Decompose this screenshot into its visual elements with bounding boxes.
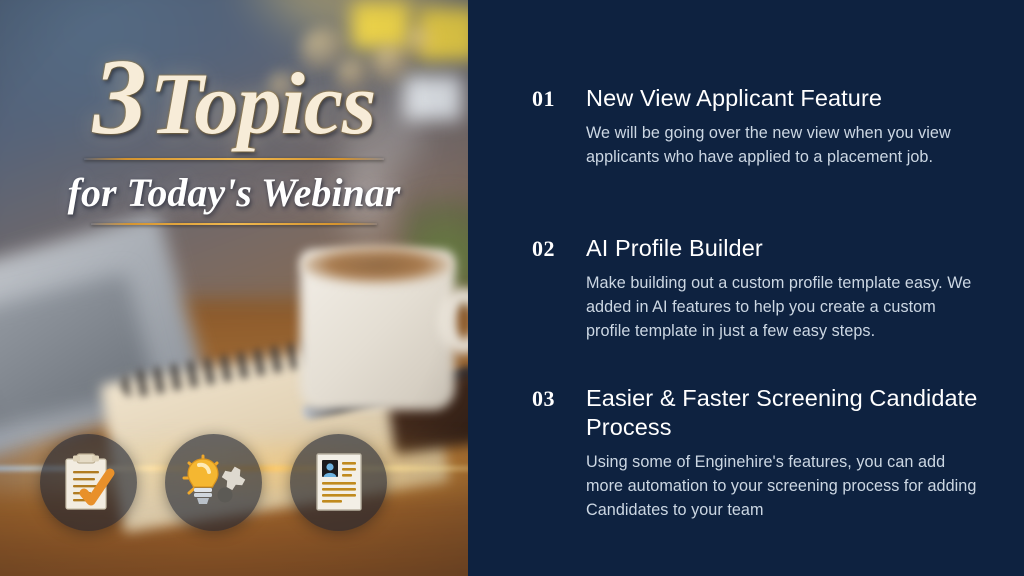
resume-profile-icon (290, 434, 387, 531)
topic-item: 02 AI Profile Builder Make building out … (468, 234, 1024, 344)
topic-description: Using some of Enginehire's features, you… (586, 451, 978, 522)
clipboard-checklist-icon (40, 434, 137, 531)
topic-number: 01 (532, 86, 586, 112)
topic-heading-row: 01 New View Applicant Feature (532, 84, 992, 113)
topic-number: 03 (532, 386, 586, 412)
topic-description: Make building out a custom profile templ… (586, 272, 978, 343)
topics-panel: 01 New View Applicant Feature We will be… (468, 0, 1024, 576)
title-number: 3 (93, 38, 150, 157)
title-word: Topics (150, 56, 375, 153)
topic-description: We will be going over the new view when … (586, 122, 978, 170)
gold-rule-bottom (91, 223, 377, 225)
topic-heading-row: 02 AI Profile Builder (532, 234, 992, 263)
topic-item: 03 Easier & Faster Screening Candidate P… (468, 384, 1024, 523)
slide-title: 3Topics (0, 44, 468, 152)
lightbulb-gear-icon (165, 434, 262, 531)
topic-number: 02 (532, 236, 586, 262)
gold-rule-top (84, 158, 384, 160)
slide-subtitle: for Today's Webinar (0, 172, 468, 214)
icon-row (40, 432, 400, 532)
title-lockup: 3Topics for Today's Webinar (0, 44, 468, 225)
topic-title: New View Applicant Feature (586, 84, 882, 113)
webinar-topics-slide: 3Topics for Today's Webinar (0, 0, 1024, 576)
topic-title: Easier & Faster Screening Candidate Proc… (586, 384, 992, 442)
topic-title: AI Profile Builder (586, 234, 763, 263)
topic-item: 01 New View Applicant Feature We will be… (468, 84, 1024, 170)
topic-heading-row: 03 Easier & Faster Screening Candidate P… (532, 384, 992, 442)
